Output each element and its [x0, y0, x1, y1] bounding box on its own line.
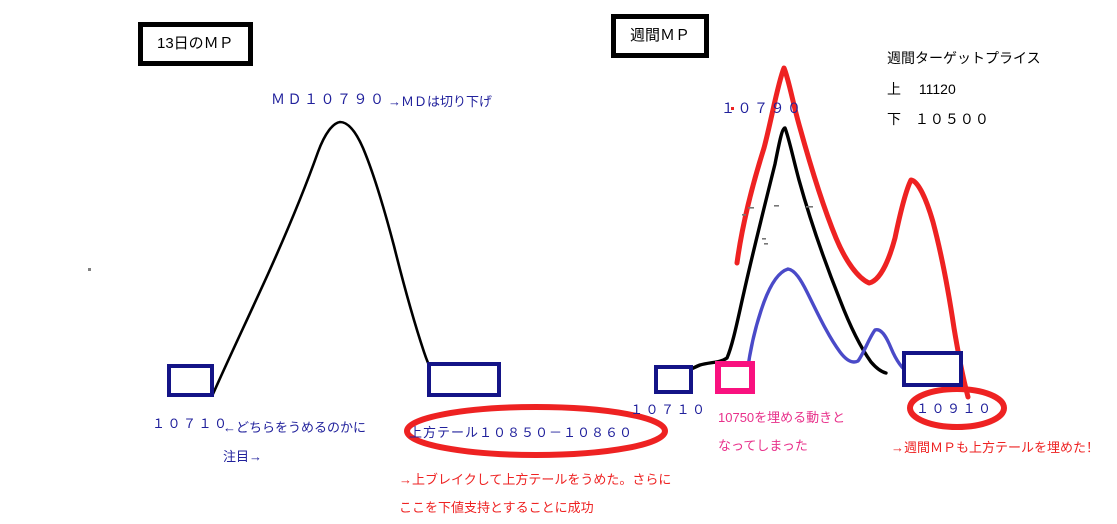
daily-upper-tail-note-line1: →上ブレイクして上方テールをうめた。さらに — [399, 470, 671, 490]
target-price-lower-value: １０５００ — [915, 111, 990, 127]
daily-peak-label: ＭＤ１０７９０ — [271, 89, 387, 111]
target-price-upper-value: 11120 — [919, 81, 956, 97]
target-price-upper-row: 上 11120 — [887, 79, 1041, 101]
panel-title-weekly: 週間ＭＰ — [611, 14, 709, 58]
panel-title-daily-label: 13日のＭＰ — [157, 35, 234, 52]
daily-upper-tail-label: 上方テール１０８５０－１０８６０ — [409, 423, 633, 443]
daily-upper-tail-box — [427, 362, 501, 397]
weekly-gap-box — [715, 361, 755, 394]
weekly-upper-tail-box — [902, 351, 963, 387]
weekly-inner-blue-curve — [747, 269, 918, 375]
weekly-chart-noise-marks — [742, 205, 813, 245]
weekly-mid-black-curve — [659, 128, 886, 381]
daily-profile-curve — [213, 122, 492, 394]
target-price-heading: 週間ターゲットプライス — [887, 48, 1041, 70]
daily-peak-note: →ＭＤは切り下げ — [388, 92, 492, 112]
weekly-upper-note: →週間ＭＰも上方テールを埋めた！ — [891, 438, 1099, 458]
weekly-lower-tail-box — [654, 365, 693, 394]
weekly-target-price-block: 週間ターゲットプライス 上 11120 下 １０５００ — [887, 48, 1041, 131]
weekly-pink-note-line2: なってしまった — [718, 436, 808, 456]
weekly-pink-note-line1: 10750を埋める動きと — [718, 408, 845, 428]
daily-lower-tail-box — [167, 364, 214, 397]
target-price-upper-label: 上 — [887, 81, 901, 97]
daily-lower-box-label: １０７１０ — [152, 414, 230, 434]
target-price-lower-row: 下 １０５００ — [887, 109, 1041, 131]
scan-specks — [88, 107, 734, 380]
daily-lower-note-line2: 注目→ — [223, 447, 262, 467]
weekly-lower-box-label: １０７１０ — [630, 400, 708, 420]
daily-upper-tail-note-line2: ここを下値支持とすることに成功 — [399, 498, 594, 518]
left-chart-curves — [174, 122, 492, 394]
target-price-lower-label: 下 — [887, 111, 901, 127]
panel-title-weekly-label: 週間ＭＰ — [630, 27, 690, 44]
daily-lower-note-line1: ←どちらをうめるのかに — [223, 418, 366, 438]
screenshot-canvas: 13日のＭＰ 週間ＭＰ 週間ターゲットプライス 上 11120 下 １０５００ … — [0, 0, 1117, 524]
weekly-peak-label: １０７９０ — [721, 98, 804, 120]
weekly-upper-box-label: １０９１０ — [916, 399, 994, 419]
panel-title-daily: 13日のＭＰ — [138, 22, 253, 66]
